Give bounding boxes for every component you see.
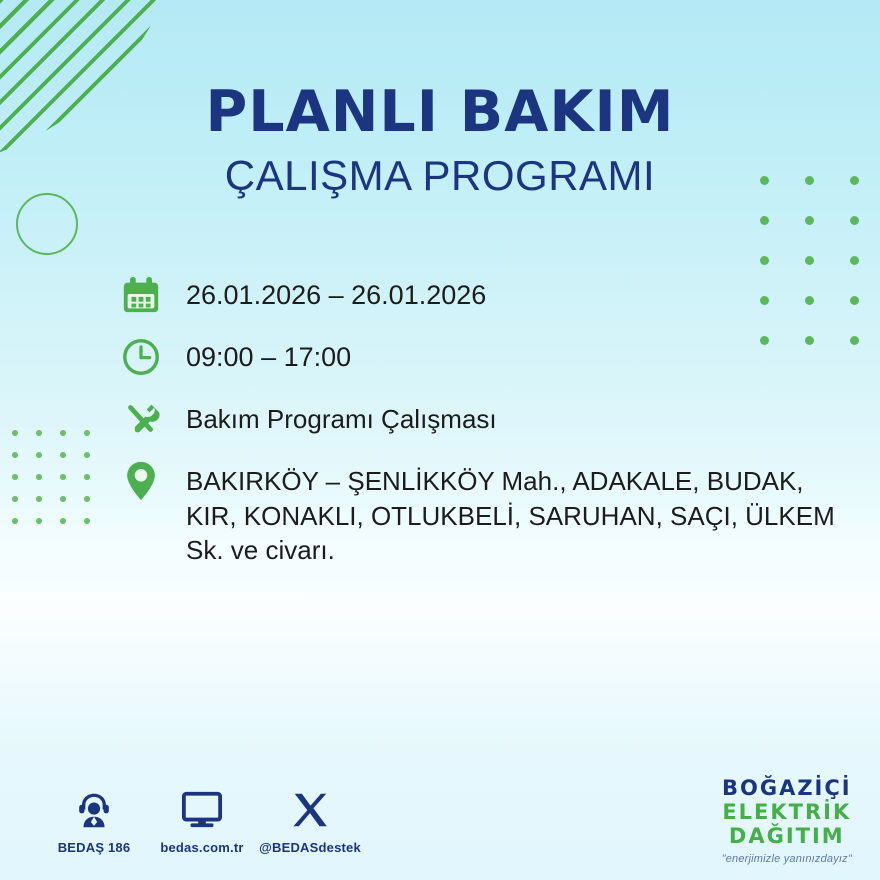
contact-website-label: bedas.com.tr <box>148 840 256 855</box>
decor-dot <box>60 430 66 436</box>
background-band-fade <box>0 594 880 714</box>
date-range-text: 26.01.2026 – 26.01.2026 <box>186 272 486 314</box>
tools-icon <box>118 396 164 442</box>
page-title: PLANLI BAKIM <box>0 84 880 141</box>
decor-dot <box>36 452 42 458</box>
decor-dot <box>60 496 66 502</box>
location-pin-icon <box>118 458 164 504</box>
brand-line-2: ELEKTRİK <box>722 802 852 823</box>
page-subtitle: ÇALIŞMA PROGRAMI <box>0 155 880 197</box>
affected-area-text: BAKIRKÖY – ŞENLİKKÖY Mah., ADAKALE, BUDA… <box>186 458 858 568</box>
footer-contacts: BEDAŞ 186 bedas.com.tr @BEDASdestek <box>40 786 364 855</box>
brand-line-1: BOĞAZİÇİ <box>722 778 852 799</box>
contact-website[interactable]: bedas.com.tr <box>148 786 256 855</box>
decor-dot <box>36 518 42 524</box>
contact-phone-label: BEDAŞ 186 <box>40 840 148 855</box>
decor-dot <box>84 452 90 458</box>
decor-dot <box>84 430 90 436</box>
detail-row-location: BAKIRKÖY – ŞENLİKKÖY Mah., ADAKALE, BUDA… <box>118 458 858 568</box>
decor-dot <box>12 474 18 480</box>
planned-maintenance-poster: PLANLI BAKIM ÇALIŞMA PROGRAMI 26 <box>0 0 880 880</box>
dot-grid-left-decoration <box>12 430 108 540</box>
decor-dot <box>84 518 90 524</box>
decor-dot <box>12 452 18 458</box>
decor-dot <box>60 474 66 480</box>
decor-dot <box>60 518 66 524</box>
decor-dot <box>850 256 859 265</box>
decor-dot <box>36 496 42 502</box>
decor-dot <box>60 452 66 458</box>
decor-dot <box>84 474 90 480</box>
brand-tagline: "enerjimizle yanınızdayız" <box>722 854 852 865</box>
calendar-icon <box>118 272 164 318</box>
detail-row-date: 26.01.2026 – 26.01.2026 <box>118 272 858 318</box>
decor-dot <box>36 474 42 480</box>
decor-dot <box>850 216 859 225</box>
decor-dot <box>12 518 18 524</box>
call-center-agent-icon <box>40 786 148 834</box>
detail-row-work-type: Bakım Programı Çalışması <box>118 396 858 442</box>
decor-dot <box>760 256 769 265</box>
contact-x-account[interactable]: @BEDASdestek <box>256 786 364 855</box>
contact-phone[interactable]: BEDAŞ 186 <box>40 786 148 855</box>
decor-dot <box>12 430 18 436</box>
maintenance-details: 26.01.2026 – 26.01.2026 09:00 – 17:00 <box>118 272 858 584</box>
work-type-text: Bakım Programı Çalışması <box>186 396 497 437</box>
decor-dot <box>12 496 18 502</box>
contact-x-label: @BEDASdestek <box>256 840 364 855</box>
poster-header: PLANLI BAKIM ÇALIŞMA PROGRAMI <box>0 84 880 197</box>
decor-dot <box>805 216 814 225</box>
circle-outline-decoration <box>16 193 78 255</box>
clock-icon <box>118 334 164 380</box>
detail-row-time: 09:00 – 17:00 <box>118 334 858 380</box>
x-twitter-icon <box>256 786 364 834</box>
decor-dot <box>84 496 90 502</box>
brand-logo: BOĞAZİÇİ ELEKTRİK DAĞITIM "enerjimizle y… <box>722 778 852 865</box>
time-range-text: 09:00 – 17:00 <box>186 334 351 376</box>
decor-dot <box>36 430 42 436</box>
decor-dot <box>760 216 769 225</box>
brand-line-3: DAĞITIM <box>722 826 852 847</box>
decor-dot <box>805 256 814 265</box>
monitor-icon <box>148 786 256 834</box>
